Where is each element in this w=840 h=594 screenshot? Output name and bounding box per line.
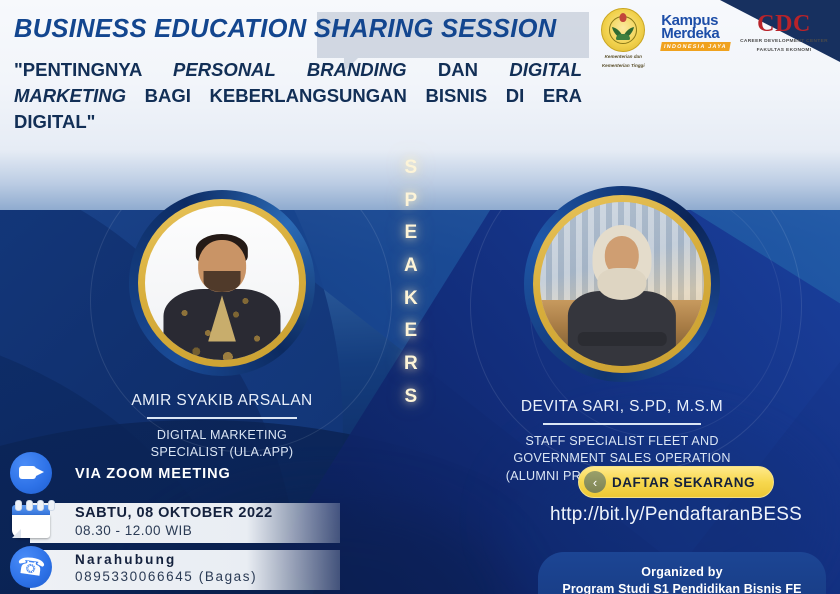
contact-text: Narahubung 0895330066645 (Bagas) — [75, 546, 257, 590]
calendar-rings — [15, 500, 55, 511]
organizer-prefix: Organized by — [548, 565, 816, 579]
book-shape — [616, 34, 630, 40]
speaker-photo-2 — [540, 202, 704, 366]
arms-shape — [578, 332, 667, 347]
speaker-photo-ring-1 — [129, 190, 315, 376]
logo-row: Kementerian dan Kementerian Tinggi Kampu… — [595, 8, 828, 70]
speakers-letter: S — [404, 152, 418, 185]
event-time: 08.30 - 12.00 WIB — [75, 523, 273, 538]
speaker-card-2: DEVITA SARI, S.PD, M.S.M STAFF SPECIALIS… — [452, 186, 792, 486]
scarf-shape — [597, 268, 646, 301]
register-button[interactable]: ‹ DAFTAR SEKARANG — [578, 466, 774, 498]
page-subtitle: "PENTINGNYA PERSONAL BRANDING DAN DIGITA… — [14, 57, 582, 136]
gold-ring-2 — [533, 195, 711, 373]
speaker-name-2: DEVITA SARI, S.PD, M.S.M — [452, 398, 792, 416]
speaker-divider-1 — [147, 417, 297, 419]
beard-shape — [204, 271, 241, 293]
event-poster: BUSINESS EDUCATION SHARING SESSION "PENT… — [0, 0, 840, 594]
speakers-letter: A — [404, 250, 418, 283]
unj-caption-line2: Kementerian Tinggi — [595, 63, 651, 70]
speakers-letter: P — [404, 185, 418, 218]
registration-url[interactable]: http://bit.ly/PendaftaranBESS — [526, 504, 826, 526]
speakers-letter: E — [404, 315, 418, 348]
info-row-platform: VIA ZOOM MEETING — [0, 452, 340, 499]
kampus-merdeka-line2: Merdeka — [661, 27, 730, 41]
registration-block: ‹ DAFTAR SEKARANG http://bit.ly/Pendafta… — [526, 466, 826, 594]
speakers-letter: K — [404, 283, 418, 316]
speaker-divider-2 — [543, 423, 701, 425]
kampus-merdeka-banner: INDONESIA JAYA — [660, 42, 730, 51]
event-date: SABTU, 08 OKTOBER 2022 — [75, 505, 273, 521]
phone-icon: ☎ — [10, 546, 54, 590]
camera-glyph — [19, 466, 36, 479]
platform-label: VIA ZOOM MEETING — [75, 466, 231, 482]
speaker-photo-ring-2 — [524, 186, 720, 382]
speakers-letter: R — [404, 348, 418, 381]
platform-text: VIA ZOOM MEETING — [75, 452, 231, 496]
phone-icon-circle: ☎ — [10, 546, 52, 588]
cdc-acronym: CDC — [740, 12, 828, 36]
cdc-logo: CDC CAREER DEVELOPMENT CENTER FAKULTAS E… — [740, 8, 828, 55]
contact-number: 0895330066645 (Bagas) — [75, 569, 257, 584]
video-camera-icon — [10, 452, 54, 496]
register-button-label: DAFTAR SEKARANG — [612, 475, 755, 490]
event-info: VIA ZOOM MEETING SABTU, 08 OKTOBER 2022 … — [0, 452, 340, 593]
organizer-panel: Organized by Program Studi S1 Pendidikan… — [538, 552, 826, 594]
blazer-shape — [568, 291, 676, 366]
calendar-body — [12, 515, 50, 538]
organizer-name: Program Studi S1 Pendidikan Bisnis FE UN… — [548, 582, 816, 594]
date-text: SABTU, 08 OKTOBER 2022 08.30 - 12.00 WIB — [75, 499, 273, 543]
unj-logo: Kementerian dan Kementerian Tinggi — [595, 8, 651, 70]
speaker-role-2-line1: STAFF SPECIALIST FLEET AND — [452, 433, 792, 451]
speakers-letter: E — [404, 217, 418, 250]
page-title: BUSINESS EDUCATION SHARING SESSION — [14, 16, 614, 43]
info-row-date: SABTU, 08 OKTOBER 2022 08.30 - 12.00 WIB — [0, 499, 340, 546]
kampus-merdeka-logo: Kampus Merdeka INDONESIA JAYA — [661, 8, 730, 51]
speaker-photo-1 — [145, 206, 299, 360]
info-row-contact: ☎ Narahubung 0895330066645 (Bagas) — [0, 546, 340, 593]
flame-shape — [620, 13, 627, 22]
speaker-name-1: AMIR SYAKIB ARSALAN — [62, 392, 382, 410]
chevron-left-icon: ‹ — [584, 471, 606, 493]
zoom-icon-circle — [10, 452, 52, 494]
header: BUSINESS EDUCATION SHARING SESSION "PENT… — [14, 16, 614, 136]
tut-wuri-handayani-icon — [601, 8, 645, 52]
gold-ring-1 — [138, 199, 306, 367]
cdc-line1: CAREER DEVELOPMENT CENTER — [740, 38, 828, 45]
cdc-line2: FAKULTAS EKONOMI — [740, 47, 828, 54]
calendar-glyph — [10, 499, 52, 539]
unj-caption-line1: Kementerian dan — [595, 54, 651, 61]
calendar-icon — [10, 499, 54, 543]
phone-glyph: ☎ — [15, 554, 47, 581]
speaker-card-1: AMIR SYAKIB ARSALAN DIGITAL MARKETING SP… — [62, 190, 382, 462]
speaker-role-1-line1: DIGITAL MARKETING — [62, 427, 382, 445]
speakers-letter: S — [404, 381, 418, 414]
speakers-vertical-label: SPEAKERS — [404, 152, 418, 413]
contact-label: Narahubung — [75, 552, 257, 567]
